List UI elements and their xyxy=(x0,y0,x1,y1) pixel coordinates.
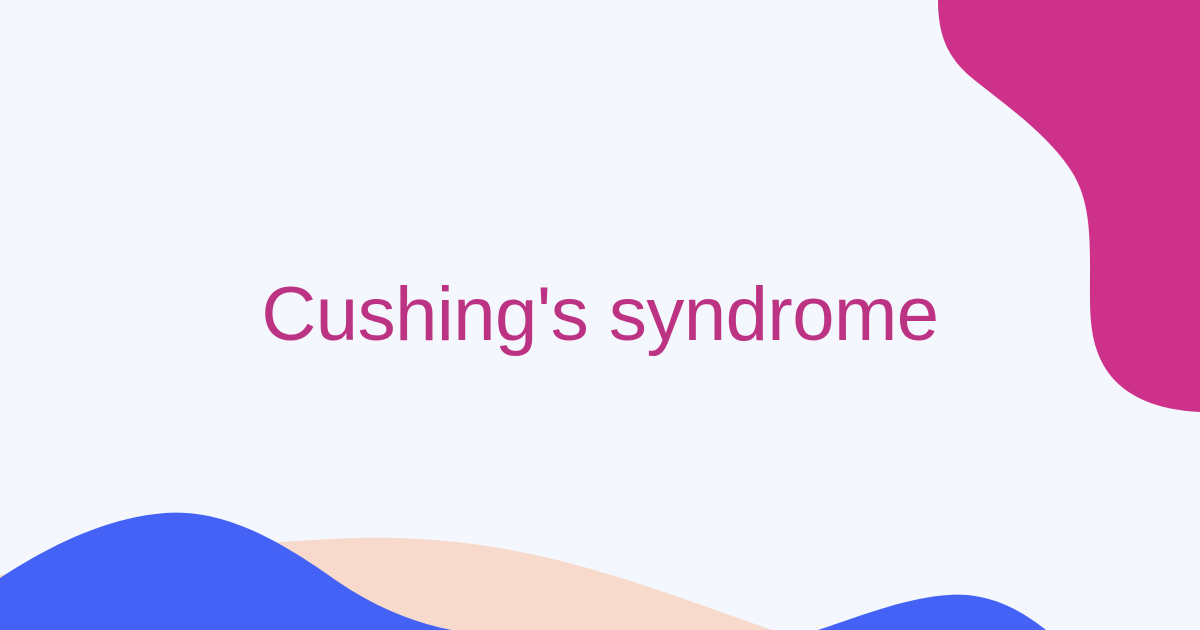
social-card: Cushing's syndrome xyxy=(0,0,1200,630)
decorative-background xyxy=(0,0,1200,630)
